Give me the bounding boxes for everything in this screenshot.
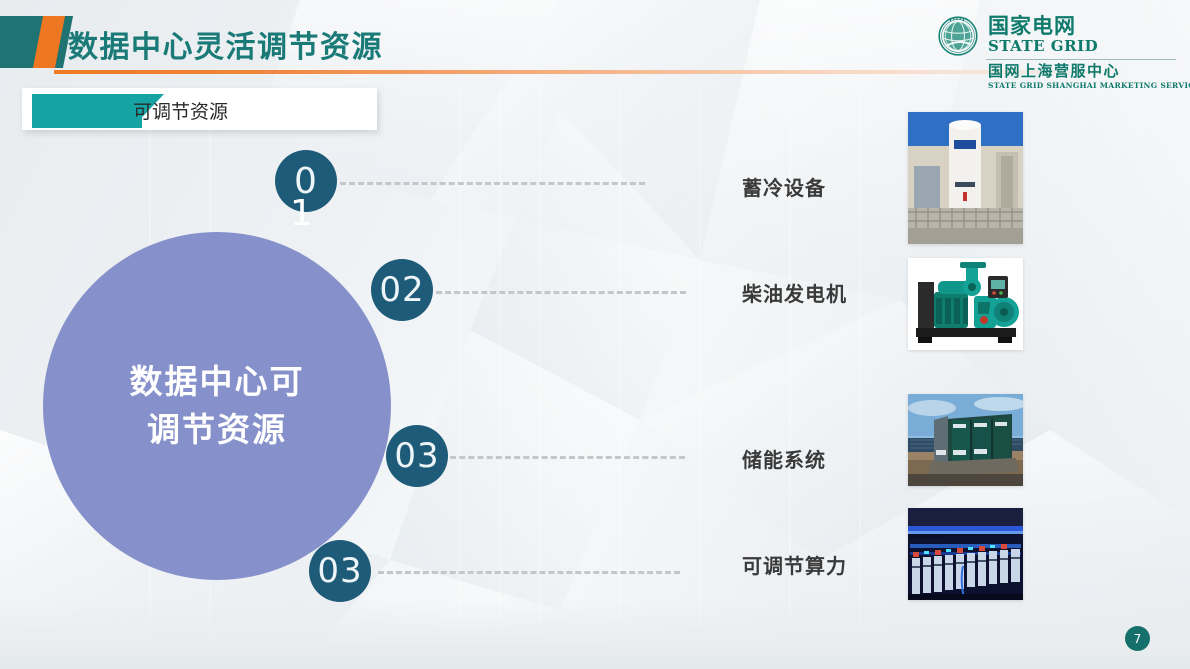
- energy-storage-container-illustration: [908, 394, 1023, 486]
- subtitle-label: 可调节资源: [133, 97, 228, 124]
- center-circle-label: 数据中心可 调节资源: [43, 232, 391, 580]
- center-circle-label-line2: 调节资源: [147, 406, 287, 454]
- item-label-1: 蓄冷设备: [742, 172, 826, 201]
- page-number-badge: 7: [1125, 626, 1150, 651]
- connector-line-1: [340, 182, 645, 185]
- computing-racks-illustration: [908, 508, 1023, 600]
- item-badge-2[interactable]: 02: [371, 259, 433, 321]
- diesel-generator-illustration: [908, 258, 1023, 350]
- center-circle-label-line1: 数据中心可: [130, 358, 305, 406]
- item-badge-1-overflow-digit: 1: [290, 196, 313, 232]
- cold-storage-tank-illustration: [908, 112, 1023, 244]
- item-badge-4[interactable]: 03: [309, 540, 371, 602]
- cold-storage-tank-photo: [908, 112, 1023, 244]
- page-title: 数据中心灵活调节资源: [68, 22, 383, 66]
- item-label-3: 储能系统: [742, 444, 826, 473]
- state-grid-logo: 国家电网 STATE GRID 国网上海营服中心 STATE GRID SHAN…: [938, 12, 1178, 90]
- logo-company-cn: 国家电网: [988, 16, 1076, 37]
- diesel-generator-photo: [908, 258, 1023, 350]
- item-label-2: 柴油发电机: [742, 278, 847, 307]
- slide-root: 数据中心灵活调节资源 可调节资源 国家电网 STATE GRID 国网上海营服中…: [0, 0, 1190, 669]
- item-badge-3[interactable]: 03: [386, 425, 448, 487]
- state-grid-emblem-icon: [938, 16, 978, 56]
- connector-line-3: [450, 456, 685, 459]
- connector-line-4: [378, 571, 680, 574]
- background-bottom-fade: [0, 599, 1190, 669]
- subtitle-teal-block: [32, 94, 142, 128]
- connector-line-2: [436, 291, 686, 294]
- logo-unit-en: STATE GRID SHANGHAI MARKETING SERVICE CE…: [988, 82, 1190, 90]
- logo-divider: [986, 59, 1176, 60]
- computing-racks-photo: [908, 508, 1023, 600]
- logo-unit-cn: 国网上海营服中心: [988, 64, 1120, 79]
- energy-storage-container-photo: [908, 394, 1023, 486]
- item-label-4: 可调节算力: [742, 550, 847, 579]
- logo-company-en: STATE GRID: [988, 39, 1098, 54]
